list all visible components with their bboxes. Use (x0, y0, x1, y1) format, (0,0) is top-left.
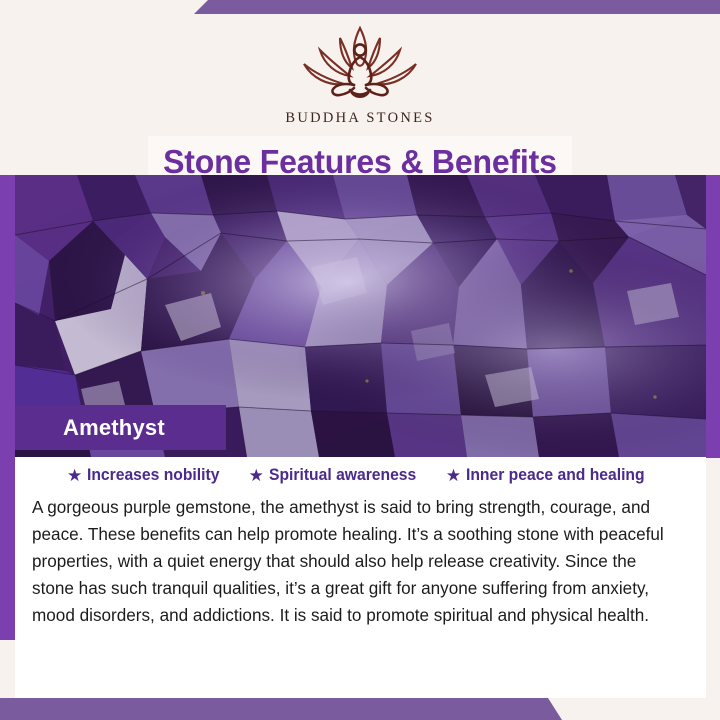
benefit-item-1: ★ Increases nobility (67, 466, 227, 485)
benefit-label-3: Inner peace and healing (466, 466, 645, 485)
top-purple-band (0, 0, 720, 14)
bottom-purple-band (0, 698, 720, 720)
infographic-page: BUDDHA STONES Stone Features & Benefits (0, 0, 720, 720)
brand-name: BUDDHA STONES (270, 110, 450, 127)
stone-description: A gorgeous purple gemstone, the amethyst… (32, 494, 678, 629)
star-icon: ★ (446, 467, 461, 484)
star-icon: ★ (67, 467, 82, 484)
star-icon: ★ (249, 467, 264, 484)
benefit-item-3: ★ Inner peace and healing (446, 466, 654, 485)
stone-name-banner: Amethyst (15, 405, 226, 450)
right-edge-footer-mask (706, 458, 720, 698)
benefit-label-2: Spiritual awareness (269, 466, 416, 485)
brand-logo: BUDDHA STONES (270, 20, 450, 127)
lotus-meditation-icon (284, 20, 436, 108)
left-edge-footer-mask (0, 640, 15, 698)
benefit-item-2: ★ Spiritual awareness (249, 466, 424, 485)
benefits-row: ★ Increases nobility ★ Spiritual awarene… (15, 457, 706, 485)
brand-header: BUDDHA STONES Stone Features & Benefits (0, 14, 720, 175)
benefit-label-1: Increases nobility (87, 466, 219, 485)
stone-info-panel: ★ Increases nobility ★ Spiritual awarene… (15, 457, 706, 698)
stone-name: Amethyst (15, 415, 165, 441)
